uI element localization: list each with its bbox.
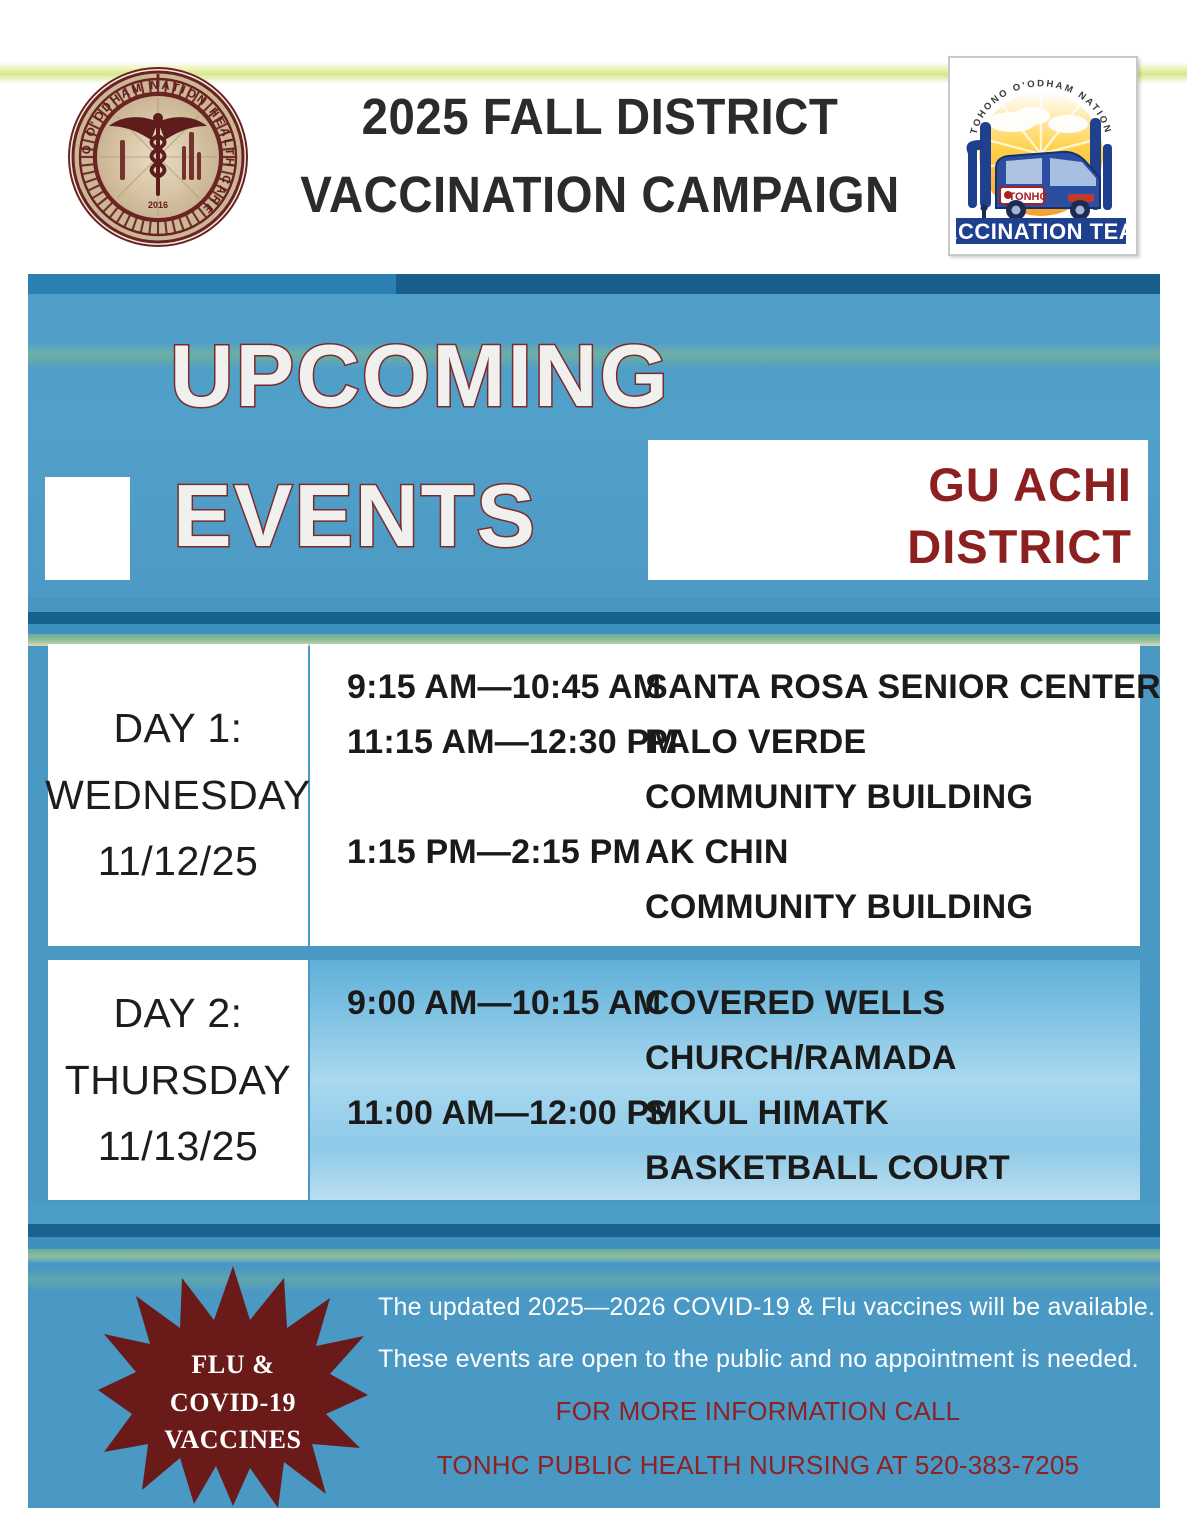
flyer-footer: FLU & COVID-19 VACCINES The updated 2025… <box>28 1262 1160 1508</box>
schedule-day-row: DAY 1: WEDNESDAY 11/12/25 9:15 AM—10:45 … <box>28 644 1160 946</box>
day-number-label: DAY 2: <box>113 980 242 1046</box>
schedule-location: AK CHIN <box>645 825 1140 880</box>
divider-stripes-top <box>28 598 1160 646</box>
vaccination-team-logo: TONHC TOHONO O'ODHAM NATION VACCINATION <box>948 56 1138 256</box>
footer-phone-line: TONHC PUBLIC HEALTH NURSING AT 520-383-7… <box>378 1439 1138 1493</box>
vaccines-starburst-badge: FLU & COVID-19 VACCINES <box>98 1262 368 1508</box>
footer-note-2: These events are open to the public and … <box>378 1334 1138 1386</box>
stripe-3 <box>28 624 1160 634</box>
stripe-2 <box>28 612 1160 624</box>
day-number-label: DAY 1: <box>113 695 242 761</box>
schedule-table: DAY 1: WEDNESDAY 11/12/25 9:15 AM—10:45 … <box>28 644 1160 1204</box>
district-line-1: GU ACHI <box>648 440 1148 516</box>
stripe-2 <box>28 1224 1160 1237</box>
schedule-location: BASKETBALL COURT <box>645 1141 1140 1196</box>
schedule-day-row: DAY 2: THURSDAY 11/13/25 9:00 AM—10:15 A… <box>28 956 1160 1204</box>
day-schedule-cell: 9:00 AM—10:15 AM COVERED WELLS CHURCH/RA… <box>310 960 1140 1200</box>
schedule-line: COMMUNITY BUILDING <box>310 770 1140 825</box>
schedule-location: SIKUL HIMATK <box>645 1086 1140 1141</box>
flyer-header: 2016 TOHONO O'ODHAM NATION HEALTH CARE 2… <box>0 0 1187 272</box>
footer-text-block: The updated 2025—2026 COVID-19 & Flu vac… <box>378 1282 1138 1492</box>
panel-top-stripe-dark <box>396 274 1160 294</box>
schedule-location: SANTA ROSA SENIOR CENTER <box>645 660 1160 715</box>
day-weekday-label: WEDNESDAY <box>45 762 311 828</box>
flyer-body-panel: UPCOMING EVENTS GU ACHI DISTRICT DAY 1: … <box>28 274 1160 1508</box>
schedule-time: 9:00 AM—10:15 AM <box>310 976 645 1031</box>
schedule-time <box>310 1141 645 1196</box>
schedule-line: BASKETBALL COURT <box>310 1141 1140 1196</box>
district-name-box: GU ACHI DISTRICT <box>648 440 1148 580</box>
footer-call-heading: FOR MORE INFORMATION CALL <box>378 1385 1138 1439</box>
schedule-line: 1:15 PM—2:15 PM AK CHIN <box>310 825 1140 880</box>
schedule-time: 11:15 AM—12:30 PM <box>310 715 645 770</box>
schedule-location: CHURCH/RAMADA <box>645 1031 1140 1086</box>
stripe-1 <box>28 1204 1160 1224</box>
day-label-cell: DAY 1: WEDNESDAY 11/12/25 <box>48 644 308 946</box>
schedule-time: 1:15 PM—2:15 PM <box>310 825 645 880</box>
tonhc-seal-logo: 2016 TOHONO O'ODHAM NATION HEALTH CARE <box>63 62 253 252</box>
schedule-line: CHURCH/RAMADA <box>310 1031 1140 1086</box>
schedule-time <box>310 1031 645 1086</box>
schedule-line: 9:00 AM—10:15 AM COVERED WELLS <box>310 976 1140 1031</box>
schedule-line: COMMUNITY BUILDING <box>310 880 1140 935</box>
schedule-location: COMMUNITY BUILDING <box>645 770 1140 825</box>
day-weekday-label: THURSDAY <box>65 1047 291 1113</box>
upcoming-events-banner: UPCOMING EVENTS GU ACHI DISTRICT <box>28 294 1160 598</box>
divider-stripes-bottom <box>28 1204 1160 1262</box>
stripe-4 <box>28 1249 1160 1262</box>
banner-word-events: EVENTS <box>173 472 537 560</box>
district-line-2: DISTRICT <box>648 516 1148 578</box>
day-date-label: 11/13/25 <box>98 1113 259 1179</box>
seal-year-text: 2016 <box>148 200 168 210</box>
schedule-time: 9:15 AM—10:45 AM <box>310 660 645 715</box>
stripe-3 <box>28 1237 1160 1249</box>
footer-note-1: The updated 2025—2026 COVID-19 & Flu vac… <box>378 1282 1138 1334</box>
schedule-line: 11:00 AM—12:00 PM SIKUL HIMATK <box>310 1086 1140 1141</box>
title-line-2: VACCINATION CAMPAIGN <box>293 156 907 234</box>
page-title: 2025 FALL DISTRICT VACCINATION CAMPAIGN <box>270 78 930 233</box>
team-logo-banner-text: VACCINATION TEAM <box>950 219 1132 244</box>
schedule-time <box>310 770 645 825</box>
day-schedule-cell: 9:15 AM—10:45 AM SANTA ROSA SENIOR CENTE… <box>310 644 1140 946</box>
schedule-time <box>310 880 645 935</box>
day-label-cell: DAY 2: THURSDAY 11/13/25 <box>48 960 308 1200</box>
schedule-line: 11:15 AM—12:30 PM PALO VERDE <box>310 715 1140 770</box>
schedule-location: COMMUNITY BUILDING <box>645 880 1140 935</box>
schedule-location: PALO VERDE <box>645 715 1140 770</box>
starburst-shape <box>98 1266 368 1508</box>
title-line-1: 2025 FALL DISTRICT <box>293 78 907 156</box>
schedule-location: COVERED WELLS <box>645 976 1140 1031</box>
banner-word-upcoming: UPCOMING <box>170 332 670 420</box>
day-date-label: 11/12/25 <box>98 828 259 894</box>
schedule-line: 9:15 AM—10:45 AM SANTA ROSA SENIOR CENTE… <box>310 660 1140 715</box>
banner-white-accent-box <box>45 477 130 580</box>
schedule-time: 11:00 AM—12:00 PM <box>310 1086 645 1141</box>
stripe-1 <box>28 598 1160 612</box>
